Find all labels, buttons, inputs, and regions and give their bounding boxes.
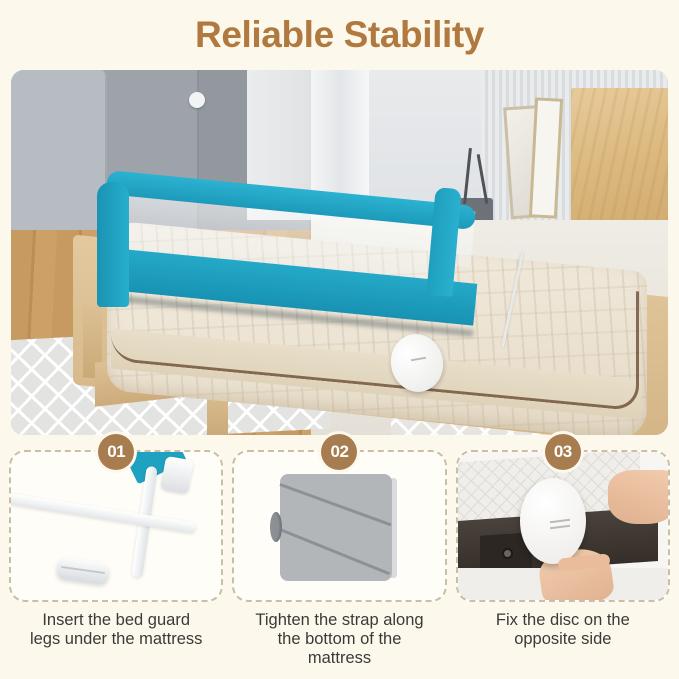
installation-steps: 01 Insert the bed guardlegs under the ma… — [0, 450, 679, 668]
title-bar: Reliable Stability — [0, 0, 679, 70]
hero-product-image — [11, 70, 668, 435]
wardrobe-panel-left — [11, 70, 107, 245]
wardrobe-knob-icon — [189, 92, 205, 108]
step-02: 02 Tighten the strap alongthe bottom of … — [232, 450, 446, 668]
step-03-image — [456, 450, 670, 602]
step-02-caption: Tighten the strap alongthe bottom of the… — [232, 611, 446, 668]
step-01-caption: Insert the bed guardlegs under the mattr… — [9, 611, 223, 649]
hand-upper — [608, 470, 670, 524]
step-03-caption: Fix the disc on theopposite side — [456, 611, 670, 649]
step-03: 03 Fix the disc on theopposite side — [456, 450, 670, 668]
leg-horizontal-bar — [9, 493, 197, 534]
drawer-knob-icon — [502, 548, 513, 559]
step-number-badge: 03 — [545, 434, 581, 470]
bed-guard-left-post — [97, 182, 129, 307]
step-01: 01 Insert the bed guardlegs under the ma… — [9, 450, 223, 668]
leg-joint-connector — [160, 456, 193, 494]
step-number-badge: 01 — [98, 434, 134, 470]
page-title: Reliable Stability — [195, 14, 484, 56]
step-number-badge: 02 — [321, 434, 357, 470]
step-02-image — [232, 450, 446, 602]
step-01-image — [9, 450, 223, 602]
